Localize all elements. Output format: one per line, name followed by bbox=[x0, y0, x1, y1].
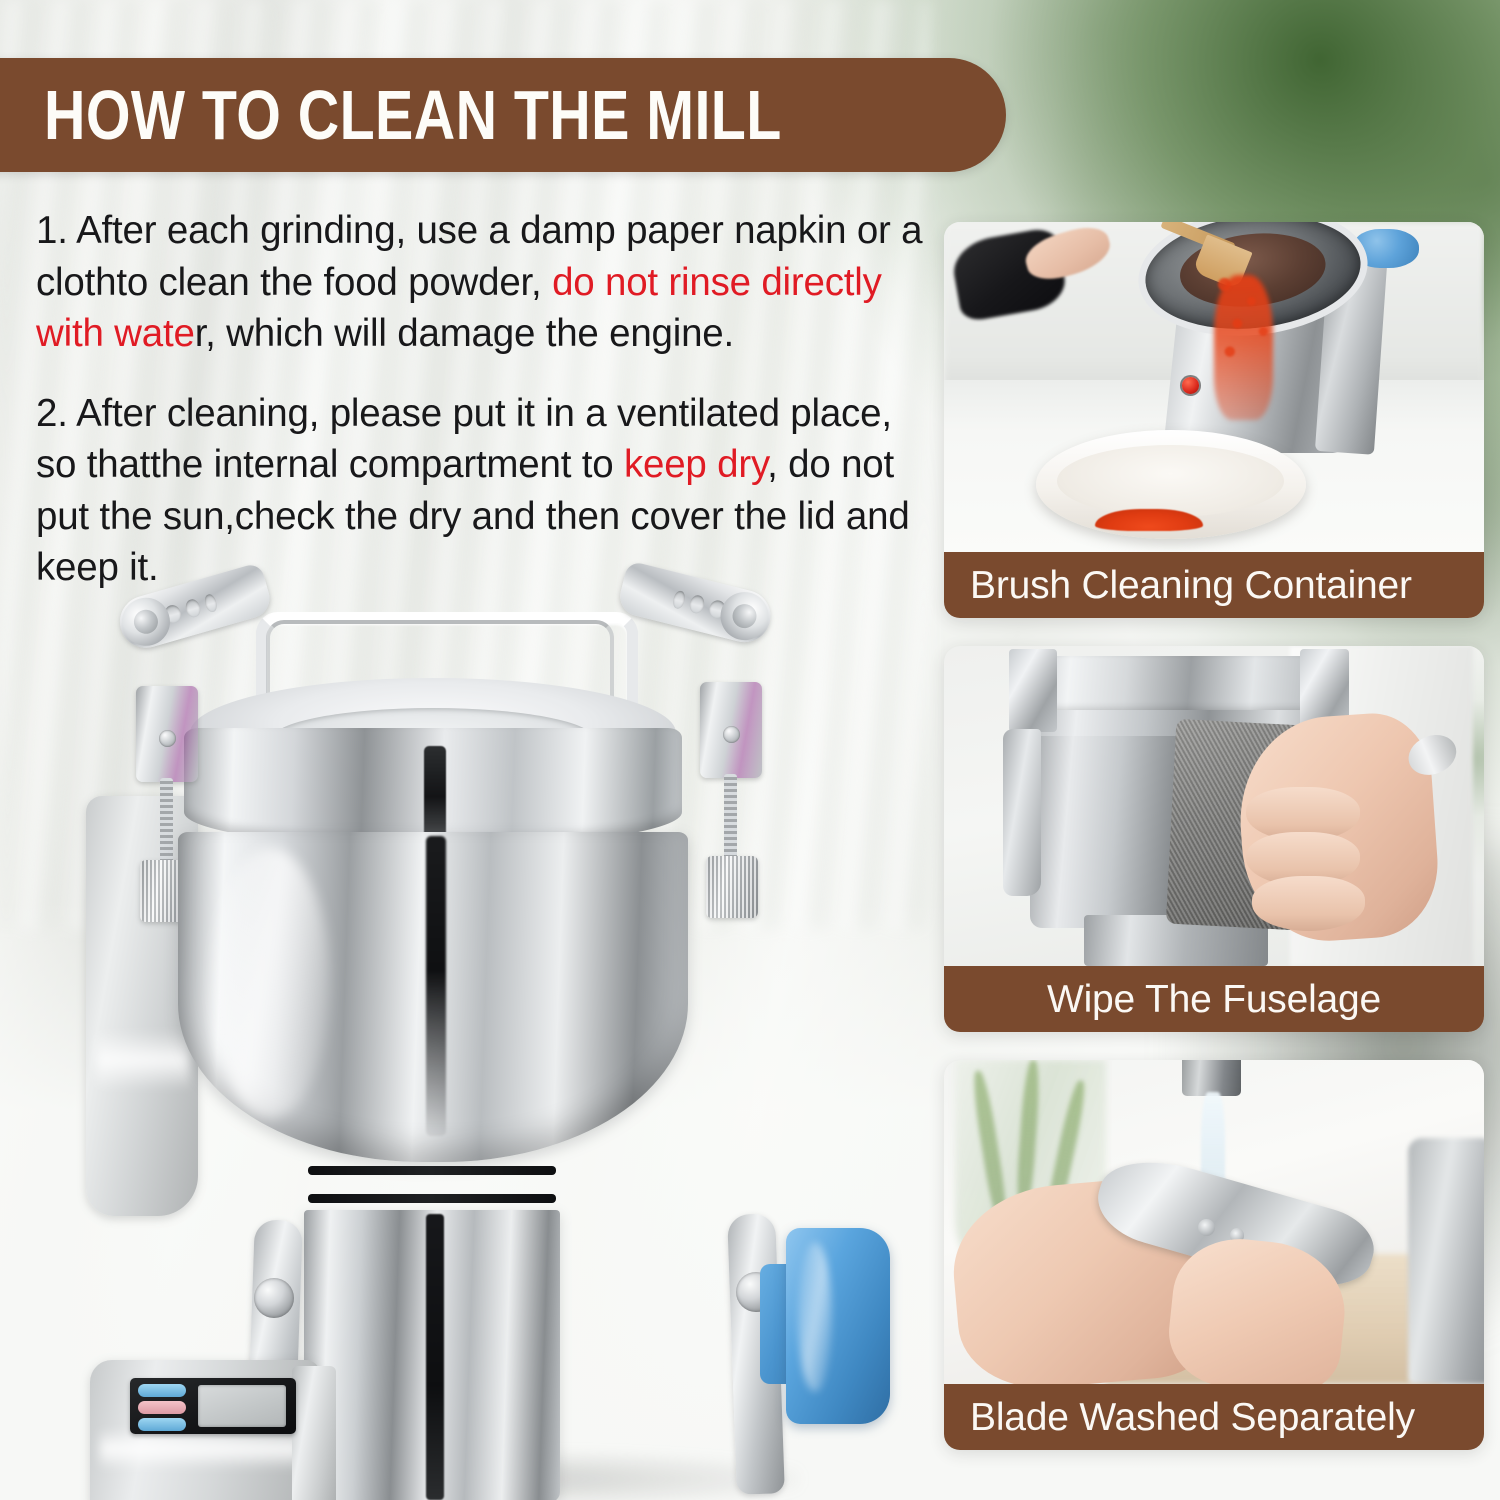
photo1-dish bbox=[1036, 430, 1306, 539]
panel-wipe-the-fuselage: Wipe The Fuselage bbox=[944, 646, 1484, 1032]
photo2-mill-lid bbox=[1020, 656, 1333, 714]
mill-lid-seam bbox=[424, 746, 446, 838]
photo1-powder-particles bbox=[1192, 262, 1300, 374]
infographic-page: HOW TO CLEAN THE MILL 1. After each grin… bbox=[0, 0, 1500, 1500]
mill-vent-collar bbox=[296, 1152, 568, 1216]
mill-blue-knob-highlight bbox=[798, 1242, 832, 1392]
mill-vent-slot bbox=[308, 1166, 556, 1175]
mill-vent-slot bbox=[308, 1194, 556, 1203]
caption-label-1: Brush Cleaning Container bbox=[970, 566, 1412, 605]
mill-base-highlight bbox=[100, 1428, 300, 1470]
instruction-2-highlight: keep dry bbox=[624, 443, 767, 486]
photo2-side-arm bbox=[1003, 729, 1041, 895]
caption-label-3: Blade Washed Separately bbox=[970, 1398, 1415, 1437]
mill-bowl-highlight bbox=[210, 848, 330, 1118]
caption-bar-1: Brush Cleaning Container bbox=[944, 552, 1484, 618]
mill-control-button-top[interactable] bbox=[138, 1384, 186, 1397]
mill-drum-seam bbox=[426, 1214, 444, 1500]
mill-clamp-lever-right bbox=[616, 560, 776, 647]
mill-pivot-left bbox=[254, 1278, 294, 1318]
product-grain-mill bbox=[60, 560, 900, 1500]
photo1-power-button bbox=[1182, 377, 1199, 394]
header-banner: HOW TO CLEAN THE MILL bbox=[0, 58, 1006, 172]
instruction-1-text-b: r, which will damage the engine. bbox=[195, 312, 734, 355]
clamp-screw bbox=[159, 730, 176, 747]
mill-knurled-knob-right bbox=[706, 856, 758, 918]
mill-clamp-lever-left bbox=[114, 562, 274, 654]
photo3-steel-jar bbox=[1408, 1138, 1484, 1384]
page-title: HOW TO CLEAN THE MILL bbox=[44, 80, 782, 150]
photo-wipe-the-fuselage bbox=[944, 646, 1484, 966]
panel-blade-washed-separately: Blade Washed Separately bbox=[944, 1060, 1484, 1450]
mill-clamp-block-left bbox=[136, 686, 198, 782]
photo-blade-washed-separately bbox=[944, 1060, 1484, 1384]
photo1-chili-powder-heap bbox=[1095, 509, 1203, 531]
caption-label-2: Wipe The Fuselage bbox=[1047, 980, 1381, 1019]
photo2-finger bbox=[1252, 876, 1365, 930]
instruction-paragraph-1: 1. After each grinding, use a damp paper… bbox=[36, 205, 926, 360]
mill-bowl-seam bbox=[426, 836, 446, 1136]
photo3-faucet bbox=[1182, 1060, 1241, 1096]
photo2-clamp-left bbox=[1009, 649, 1058, 732]
photo1-dish-interior bbox=[1057, 445, 1284, 517]
mill-control-button-bottom[interactable] bbox=[138, 1418, 186, 1431]
mill-lcd-display bbox=[198, 1385, 286, 1427]
clamp-screw bbox=[723, 726, 740, 743]
mill-side-arm-highlight bbox=[96, 1030, 190, 1090]
mill-control-button-middle[interactable] bbox=[138, 1401, 186, 1414]
caption-bar-2: Wipe The Fuselage bbox=[944, 966, 1484, 1032]
photo-brush-cleaning-container bbox=[944, 222, 1484, 552]
caption-bar-3: Blade Washed Separately bbox=[944, 1384, 1484, 1450]
panel-brush-cleaning-container: Brush Cleaning Container bbox=[944, 222, 1484, 618]
mill-clamp-block-right bbox=[700, 682, 762, 778]
mill-base-column bbox=[292, 1366, 336, 1500]
